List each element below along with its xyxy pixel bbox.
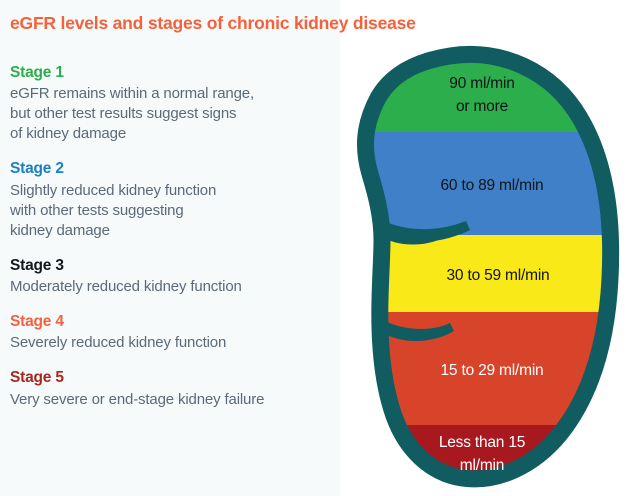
- stage-5-description: Very severe or end-stage kidney failure: [10, 390, 340, 410]
- infographic-root: eGFR levels and stages of chronic kidney…: [0, 0, 631, 496]
- stage-2-description: Slightly reduced kidney function with ot…: [10, 181, 340, 241]
- stage-item-2: Stage 2 Slightly reduced kidney function…: [10, 158, 340, 240]
- kidney-diagram: 90 ml/min or more 60 to 89 ml/min 30 to …: [330, 34, 631, 496]
- stage-4-heading: Stage 4: [10, 311, 340, 333]
- stage-5-band-label-line2: ml/min: [460, 457, 504, 474]
- stage-1-band-label-line1: 90 ml/min: [449, 75, 514, 92]
- stage-item-1: Stage 1 eGFR remains within a normal ran…: [10, 62, 340, 144]
- stage-4-description: Severely reduced kidney function: [10, 333, 340, 353]
- stage-3-heading: Stage 3: [10, 255, 340, 277]
- stage-2-band-label: 60 to 89 ml/min: [441, 177, 544, 194]
- stage-item-3: Stage 3 Moderately reduced kidney functi…: [10, 255, 340, 297]
- stage-5-band-label-line1: Less than 15: [439, 434, 525, 451]
- stage-1-description: eGFR remains within a normal range, but …: [10, 84, 340, 144]
- kidney-diagram-svg: 90 ml/min or more 60 to 89 ml/min 30 to …: [330, 34, 631, 496]
- page-title: eGFR levels and stages of chronic kidney…: [10, 13, 610, 34]
- stage-item-5: Stage 5 Very severe or end-stage kidney …: [10, 367, 340, 409]
- stage-list: Stage 1 eGFR remains within a normal ran…: [10, 62, 340, 410]
- stage-3-description: Moderately reduced kidney function: [10, 277, 340, 297]
- stage-1-heading: Stage 1: [10, 62, 340, 84]
- stage-5-heading: Stage 5: [10, 367, 340, 389]
- stage-1-band-label-line2: or more: [456, 98, 508, 115]
- stage-4-band-label: 15 to 29 ml/min: [441, 362, 544, 379]
- stage-2-heading: Stage 2: [10, 158, 340, 180]
- stage-item-4: Stage 4 Severely reduced kidney function: [10, 311, 340, 353]
- stage-3-band-label: 30 to 59 ml/min: [447, 267, 550, 284]
